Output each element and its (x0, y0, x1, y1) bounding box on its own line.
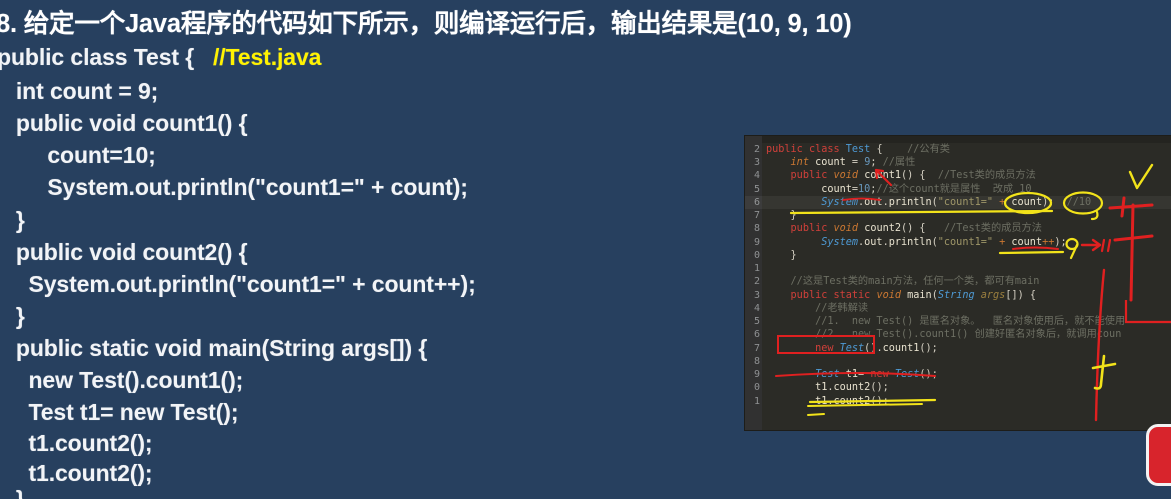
line-number: 8 (754, 355, 760, 368)
editor-line: //老韩解读 (766, 302, 868, 315)
line-number: 2 (754, 143, 760, 156)
line-number: 7 (754, 209, 760, 222)
line-number: 9 (754, 368, 760, 381)
line-number: 4 (754, 302, 760, 315)
editor-line-number-gutter: 2 3 4 5 6 7 8 9 0 1 2 3 4 5 6 7 8 9 0 1 (745, 136, 762, 430)
inset-code-editor[interactable]: 2 3 4 5 6 7 8 9 0 1 2 3 4 5 6 7 8 9 0 1 … (745, 136, 1171, 430)
slide-code-line: public class Test { //Test.java (0, 44, 321, 71)
slide-code-line: } (0, 486, 25, 499)
page-title: 8. 给定一个Java程序的代码如下所示，则编译运行后，输出结果是(10, 9,… (0, 3, 1171, 40)
line-number: 3 (754, 156, 760, 169)
slide-code-comment: //Test.java (213, 44, 321, 70)
editor-code-area[interactable]: public class Test { //公有类 int count = 9;… (762, 136, 1171, 430)
editor-line: //这是Test类的main方法，任何一个类，都可有main (766, 275, 1039, 288)
line-number: 7 (754, 342, 760, 355)
editor-line: System.out.println("count1=" + count); /… (766, 196, 1091, 209)
line-number: 5 (754, 315, 760, 328)
editor-line: t1.count2(); (766, 381, 889, 394)
editor-line: int count = 9; //属性 (766, 156, 915, 169)
line-number: 8 (754, 222, 760, 235)
editor-line: //2. new Test().count1() 创建好匿名对象后，就调用cou… (766, 328, 1121, 341)
editor-line: Test t1= new Test(); (766, 368, 938, 381)
line-number: 0 (754, 249, 760, 262)
slide-code-line: t1.count2(); (0, 430, 152, 457)
slide-code-line: int count = 9; (0, 78, 158, 105)
line-number: 6 (754, 328, 760, 341)
slide-code-line: } (0, 303, 25, 330)
slide-code-line: public static void main(String args[]) { (0, 335, 427, 362)
corner-badge (1146, 424, 1171, 486)
line-number: 3 (754, 289, 760, 302)
editor-line: count=10;//这个count就是属性 改成 10 (766, 183, 1032, 196)
editor-line: System.out.println("count1=" + count++); (766, 236, 1067, 249)
slide-code-line: new Test().count1(); (0, 367, 243, 394)
line-number: 1 (754, 262, 760, 275)
slide-code-line: count=10; (0, 142, 156, 169)
editor-line: //1. new Test() 是匿名对象。 匿名对象使用后，就不能使用 (766, 315, 1125, 328)
slide-code-line: } (0, 207, 25, 234)
editor-line: t1.count2(); (766, 395, 889, 408)
line-number: 4 (754, 169, 760, 182)
line-number: 9 (754, 236, 760, 249)
editor-line: } (766, 249, 797, 262)
editor-line: public static void main(String args[]) { (766, 289, 1036, 302)
slide-code-line: t1.count2(); (0, 460, 152, 487)
slide-code-line: System.out.println("count1=" + count++); (0, 271, 476, 298)
slide-code-line: public void count2() { (0, 239, 248, 266)
line-number: 2 (754, 275, 760, 288)
slide-code-line: Test t1= new Test(); (0, 399, 238, 426)
slide-code-line: System.out.println("count1=" + count); (0, 174, 468, 201)
slide-code-text: public class Test { (0, 44, 213, 70)
slide-screenshot: 8. 给定一个Java程序的代码如下所示，则编译运行后，输出结果是(10, 9,… (0, 0, 1171, 499)
editor-line: } (766, 209, 797, 222)
editor-line: new Test().count1(); (766, 342, 938, 355)
line-number: 5 (754, 183, 760, 196)
line-number: 0 (754, 381, 760, 394)
editor-line: public void count1() { //Test类的成员方法 (766, 169, 1036, 182)
editor-line: public class Test { //公有类 (766, 143, 950, 156)
line-number: 1 (754, 395, 760, 408)
editor-line: public void count2() { //Test类的成员方法 (766, 222, 1042, 235)
slide-code-line: public void count1() { (0, 110, 248, 137)
